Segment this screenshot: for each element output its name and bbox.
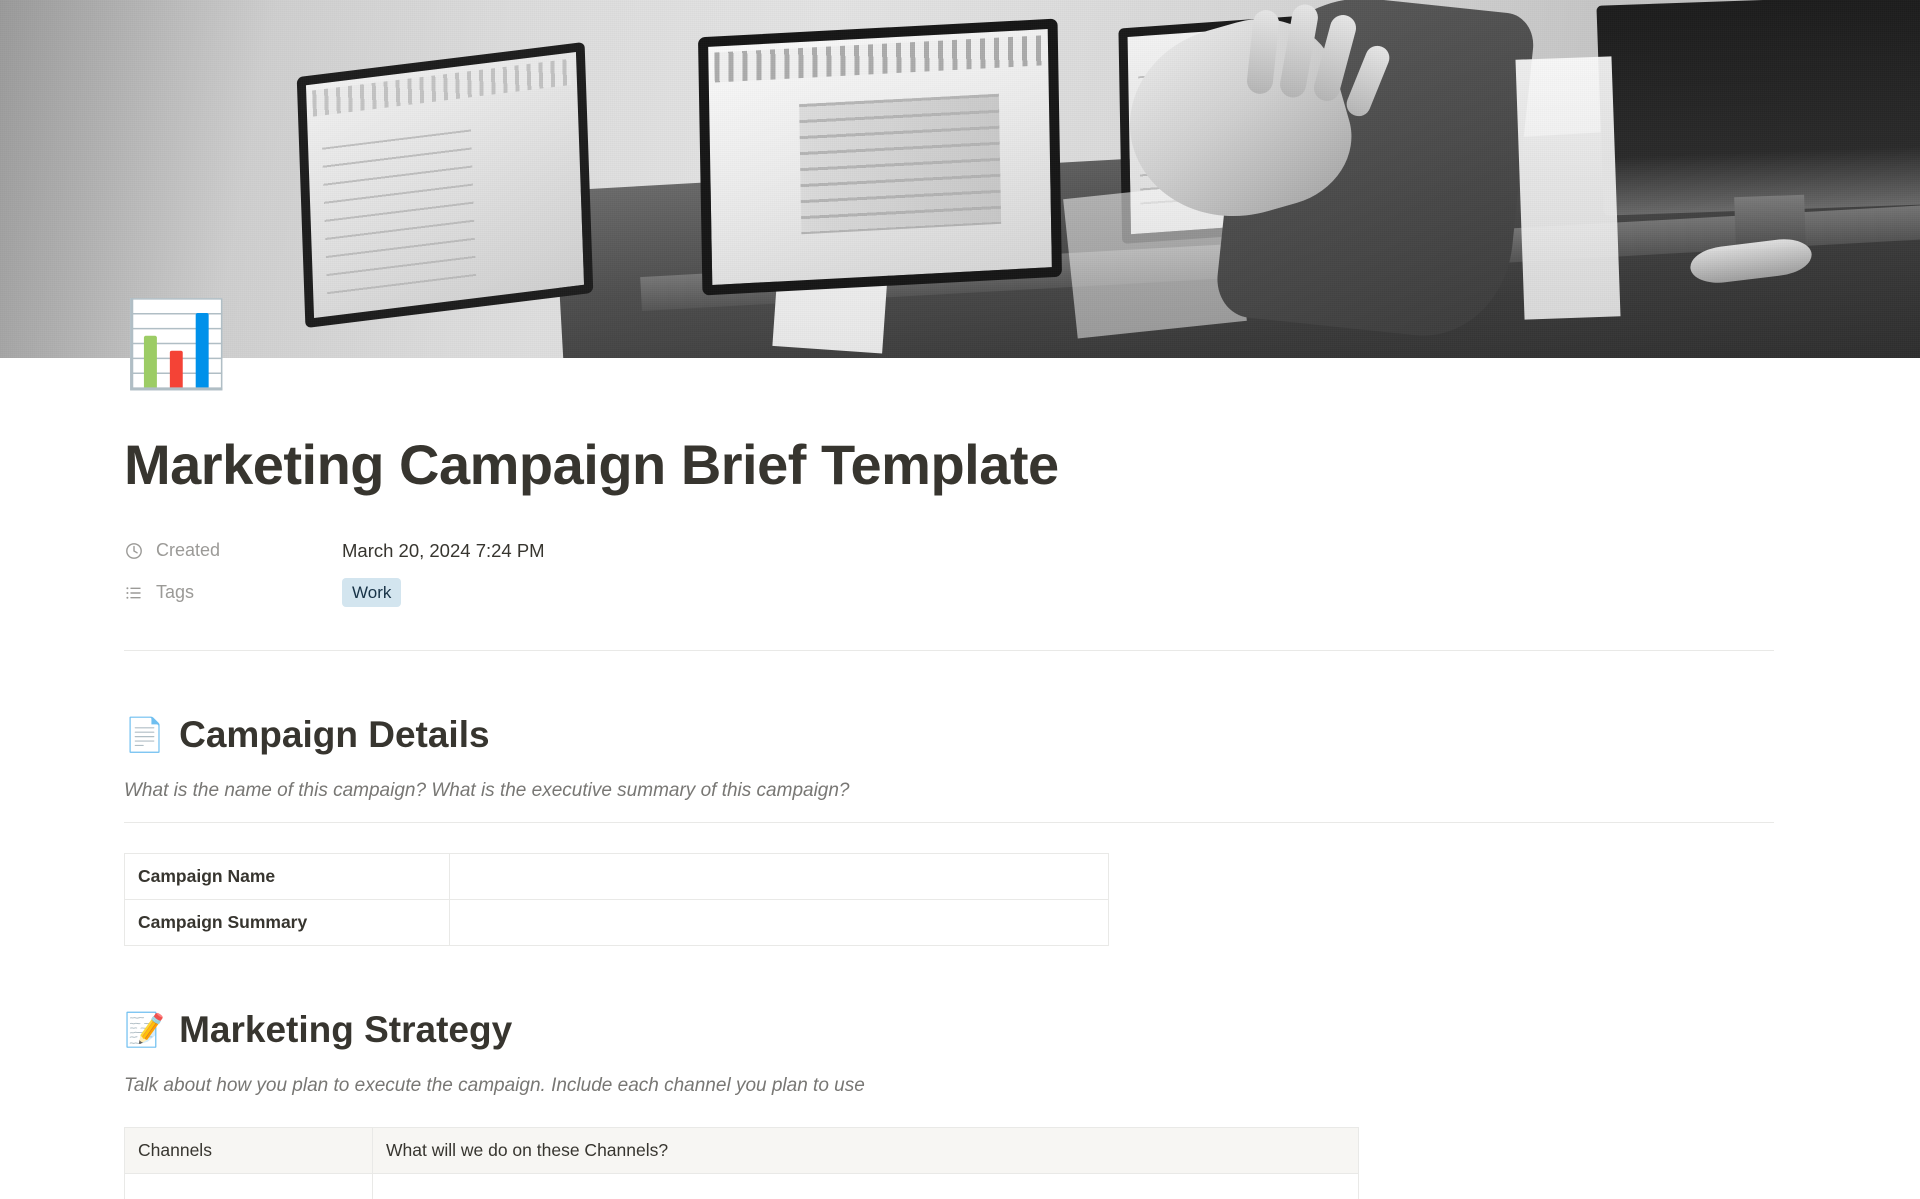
property-name-tags: Tags [156, 582, 194, 603]
tag-chip-work[interactable]: Work [342, 578, 401, 607]
section-campaign-details: 📄 Campaign Details What is the name of t… [124, 713, 1284, 946]
cell-campaign-name-label[interactable]: Campaign Name [125, 853, 450, 899]
cell-campaign-name-value[interactable] [450, 853, 1109, 899]
property-name-created: Created [156, 540, 220, 561]
property-label-tags: Tags [124, 582, 342, 603]
cell-channel-label[interactable] [125, 1174, 373, 1199]
clock-icon [124, 541, 144, 561]
list-icon [124, 583, 144, 603]
caption-marketing-strategy[interactable]: Talk about how you plan to execute the c… [124, 1075, 1284, 1097]
property-value-created[interactable]: March 20, 2024 7:24 PM [342, 540, 545, 562]
table-campaign-details[interactable]: Campaign Name Campaign Summary [124, 853, 1109, 946]
section-divider-campaign-details [124, 822, 1774, 823]
cell-campaign-summary-label[interactable]: Campaign Summary [125, 899, 450, 945]
heading-campaign-details-text: Campaign Details [179, 713, 489, 757]
bar-chart-emoji[interactable]: 📊 [124, 294, 224, 394]
cover-photo [0, 0, 1920, 358]
memo-emoji: 📝 [124, 1010, 165, 1050]
table-header-row: Channels What will we do on these Channe… [125, 1128, 1359, 1174]
page-facing-up-emoji: 📄 [124, 715, 165, 755]
cell-channel-value[interactable] [373, 1174, 1359, 1199]
property-value-tags[interactable]: Work [342, 578, 401, 607]
notion-page: 📊 Marketing Campaign Brief Template Crea… [0, 0, 1920, 1199]
heading-marketing-strategy-text: Marketing Strategy [179, 1008, 512, 1052]
page-properties: Created March 20, 2024 7:24 PM Tags Work [124, 530, 1284, 614]
column-header-channel-actions[interactable]: What will we do on these Channels? [373, 1128, 1359, 1174]
section-marketing-strategy: 📝 Marketing Strategy Talk about how you … [124, 1008, 1284, 1199]
table-row[interactable]: Campaign Summary [125, 899, 1109, 945]
property-label-created: Created [124, 540, 342, 561]
heading-marketing-strategy[interactable]: 📝 Marketing Strategy [124, 1008, 1284, 1052]
page-cover[interactable] [0, 0, 1920, 358]
table-row[interactable]: Campaign Name [125, 853, 1109, 899]
cell-campaign-summary-value[interactable] [450, 899, 1109, 945]
page-title[interactable]: Marketing Campaign Brief Template [124, 358, 1284, 496]
property-row-tags[interactable]: Tags Work [124, 572, 1284, 614]
caption-campaign-details[interactable]: What is the name of this campaign? What … [124, 780, 1284, 802]
table-marketing-strategy[interactable]: Channels What will we do on these Channe… [124, 1127, 1359, 1199]
column-header-channels[interactable]: Channels [125, 1128, 373, 1174]
header-divider [124, 650, 1774, 651]
table-row[interactable] [125, 1174, 1359, 1199]
heading-campaign-details[interactable]: 📄 Campaign Details [124, 713, 1284, 757]
property-row-created[interactable]: Created March 20, 2024 7:24 PM [124, 530, 1284, 572]
